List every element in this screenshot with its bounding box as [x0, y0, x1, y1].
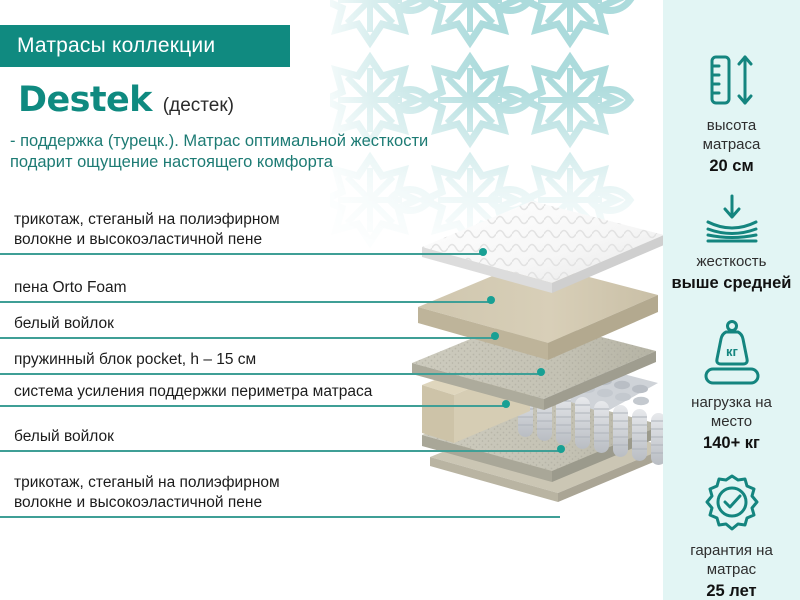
- callout-orto-foam: пена Orto Foam: [0, 278, 560, 303]
- spec-height-label: высота матраса: [697, 116, 767, 154]
- callout-dot-pocket-springs: [537, 368, 545, 376]
- mattress-product-card: Матрасы коллекции Destek (дестек) - подд…: [0, 0, 800, 600]
- tagline-line-1: - поддержка (турецк.). Матрас оптимально…: [10, 131, 570, 152]
- callout-perimeter: система усиления поддержки периметра мат…: [0, 382, 560, 407]
- spec-load-label-line1: нагрузка на: [691, 393, 772, 412]
- spec-firmness: жесткость выше средней: [663, 194, 800, 293]
- callout-dot-perimeter: [502, 400, 510, 408]
- spec-warranty-label-line1: гарантия на: [690, 541, 773, 560]
- callout-top-knit-rule: [0, 253, 483, 255]
- callout-perimeter-line1: система усиления поддержки периметра мат…: [0, 382, 560, 402]
- callout-white-felt-bottom: белый войлок: [0, 427, 560, 452]
- brand-name: Destek: [18, 80, 152, 120]
- callout-bottom-knit-line1: трикотаж, стеганый на полиэфирном: [0, 473, 560, 493]
- spec-height-label-line2: матраса: [703, 135, 761, 154]
- callout-dot-white-felt-top: [491, 332, 499, 340]
- callout-top-knit-line2: волокне и высокоэластичной пене: [0, 230, 560, 250]
- spec-warranty-label-line2: матрас: [690, 560, 773, 579]
- callout-top-knit: трикотаж, стеганый на полиэфирном волокн…: [0, 210, 560, 255]
- callout-pocket-springs-rule: [0, 373, 540, 375]
- spec-firmness-label-line1: жесткость: [696, 252, 766, 271]
- callout-white-felt-bottom-line1: белый войлок: [0, 427, 560, 447]
- spec-warranty: гарантия на матрас 25 лет: [663, 473, 800, 600]
- pressure-lines-icon: [698, 194, 766, 244]
- brand-row: Destek (дестек): [18, 80, 234, 120]
- spec-warranty-value: 25 лет: [706, 581, 756, 600]
- weight-icon-kg-text: кг: [726, 344, 739, 359]
- spec-load-value: 140+ кг: [703, 433, 760, 453]
- callout-white-felt-top-rule: [0, 337, 494, 339]
- spec-height-value: 20 см: [709, 156, 753, 176]
- spec-firmness-label: жесткость: [690, 252, 772, 271]
- callout-dot-top-knit: [479, 248, 487, 256]
- callout-bottom-knit-rule: [0, 516, 560, 518]
- spec-load-label: нагрузка на место: [685, 393, 778, 431]
- callout-pocket-springs-line1: пружинный блок pocket, h – 15 см: [0, 350, 560, 370]
- spec-sidebar: высота матраса 20 см: [663, 0, 800, 600]
- callout-white-felt-top-line1: белый войлок: [0, 314, 560, 334]
- brand-transliteration: (дестек): [163, 95, 234, 117]
- callout-bottom-knit: трикотаж, стеганый на полиэфирном волокн…: [0, 473, 560, 518]
- callout-orto-foam-rule: [0, 301, 490, 303]
- spec-firmness-value: выше средней: [672, 273, 792, 293]
- spec-load-label-line2: место: [691, 412, 772, 431]
- spec-height-label-line1: высота: [703, 116, 761, 135]
- spec-load: кг нагрузка на место 140+ кг: [663, 319, 800, 453]
- callout-orto-foam-line1: пена Orto Foam: [0, 278, 560, 298]
- callout-dot-orto-foam: [487, 296, 495, 304]
- tagline-line-2: подарит ощущение настоящего комфорта: [10, 152, 570, 173]
- callout-pocket-springs: пружинный блок pocket, h – 15 см: [0, 350, 560, 375]
- callout-top-knit-line1: трикотаж, стеганый на полиэфирном: [0, 210, 560, 230]
- callout-white-felt-top: белый войлок: [0, 314, 560, 339]
- callout-white-felt-bottom-rule: [0, 450, 560, 452]
- weight-kg-icon: кг: [697, 319, 767, 385]
- collection-banner-label: Матрасы коллекции: [0, 34, 215, 58]
- callout-bottom-knit-line2: волокне и высокоэластичной пене: [0, 493, 560, 513]
- ruler-arrow-icon: [701, 52, 763, 108]
- spec-height: высота матраса 20 см: [663, 52, 800, 176]
- callout-perimeter-rule: [0, 405, 505, 407]
- product-tagline: - поддержка (турецк.). Матрас оптимально…: [10, 131, 570, 173]
- collection-banner: Матрасы коллекции: [0, 25, 290, 67]
- callout-dot-white-felt-bottom: [557, 445, 565, 453]
- spec-warranty-label: гарантия на матрас: [684, 541, 779, 579]
- badge-check-icon: [701, 473, 763, 533]
